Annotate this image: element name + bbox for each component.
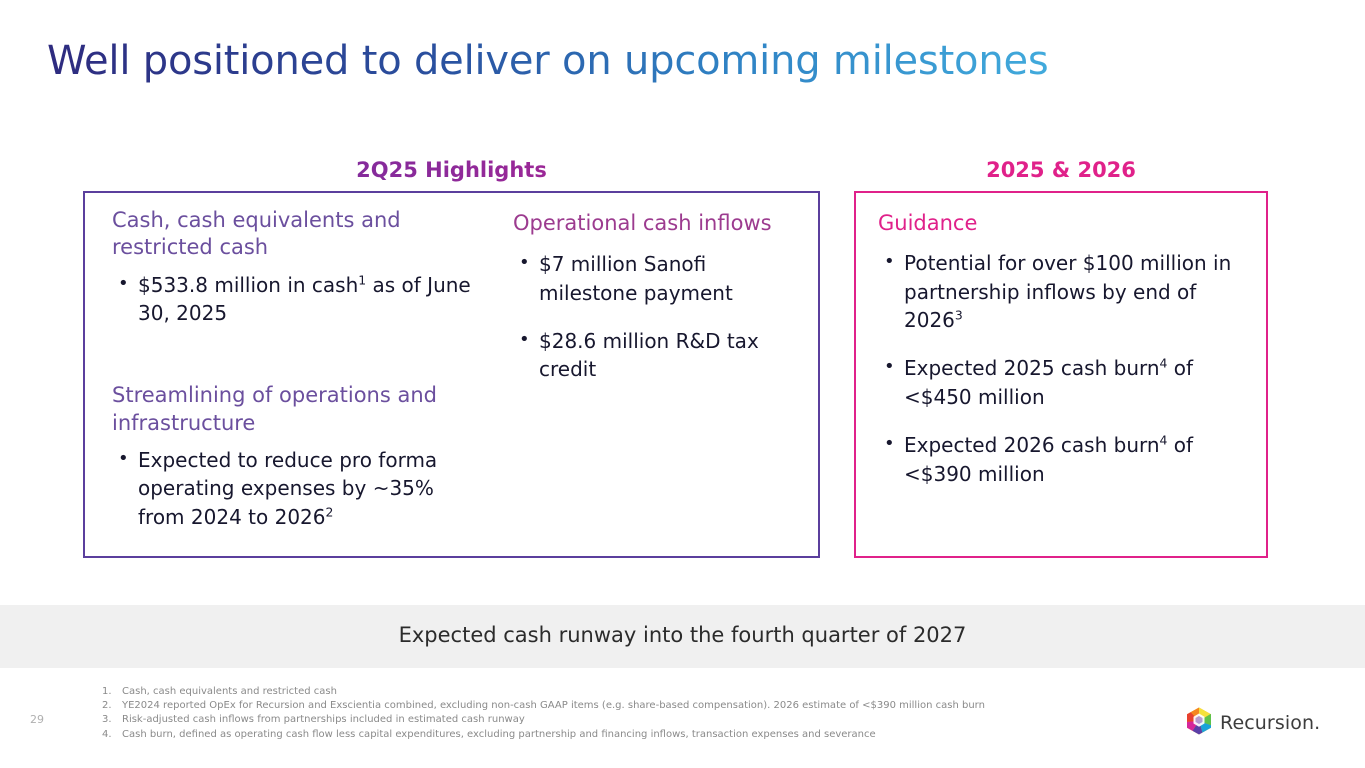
page-title: Well positioned to deliver on upcoming m… bbox=[47, 38, 1049, 84]
bullet-list-guidance: Potential for over $100 million in partn… bbox=[878, 249, 1258, 488]
footnotes: Cash, cash equivalents and restricted ca… bbox=[100, 685, 1140, 742]
company-logo: Recursion. bbox=[1186, 707, 1320, 739]
bullet-text: Potential for over $100 million in partn… bbox=[904, 251, 1231, 332]
panel-2025-2026-outlook: Guidance Potential for over $100 million… bbox=[854, 191, 1268, 558]
list-item: $7 million Sanofi milestone payment bbox=[513, 250, 803, 307]
list-item: Expected 2025 cash burn4 of <$450 millio… bbox=[878, 354, 1258, 411]
bullet-text: Expected 2026 cash burn bbox=[904, 433, 1160, 457]
section-heading-cash: Cash, cash equivalents and restricted ca… bbox=[112, 207, 482, 262]
footnote-marker: 2 bbox=[326, 504, 334, 519]
bullet-text: Expected 2025 cash burn bbox=[904, 356, 1160, 380]
bullet-text: $28.6 million R&D tax credit bbox=[539, 329, 759, 381]
list-item: $28.6 million R&D tax credit bbox=[513, 327, 803, 384]
section-heading-operational-inflows: Operational cash inflows bbox=[513, 210, 803, 237]
highlights-subcolumn-right: Operational cash inflows $7 million Sano… bbox=[513, 210, 803, 384]
list-item: $533.8 million in cash1 as of June 30, 2… bbox=[112, 271, 482, 328]
bullet-list-streamlining: Expected to reduce pro forma operating e… bbox=[112, 446, 482, 531]
recursion-hexagon-icon bbox=[1186, 707, 1212, 739]
panel-2q25-highlights: Cash, cash equivalents and restricted ca… bbox=[83, 191, 820, 558]
section-heading-streamlining: Streamlining of operations and infrastru… bbox=[112, 382, 482, 437]
bullet-text: $533.8 million in cash bbox=[138, 273, 358, 297]
footnote-marker: 1 bbox=[358, 272, 366, 287]
page-number: 29 bbox=[30, 713, 44, 726]
footnote-item: Risk-adjusted cash inflows from partners… bbox=[100, 713, 1140, 727]
outlook-subcolumn: Guidance Potential for over $100 million… bbox=[878, 210, 1258, 488]
column-header-highlights: 2Q25 Highlights bbox=[83, 158, 820, 182]
footnote-marker: 3 bbox=[955, 307, 963, 322]
list-item: Potential for over $100 million in partn… bbox=[878, 249, 1258, 334]
bullet-text: Expected to reduce pro forma operating e… bbox=[138, 448, 437, 529]
highlights-subcolumn-left: Cash, cash equivalents and restricted ca… bbox=[112, 207, 482, 531]
cash-runway-text: Expected cash runway into the fourth qua… bbox=[0, 623, 1365, 647]
logo-wordmark: Recursion. bbox=[1220, 712, 1320, 734]
footnote-item: Cash, cash equivalents and restricted ca… bbox=[100, 685, 1140, 699]
footnote-item: YE2024 reported OpEx for Recursion and E… bbox=[100, 699, 1140, 713]
bullet-list-cash: $533.8 million in cash1 as of June 30, 2… bbox=[112, 271, 482, 328]
bullet-list-operational-inflows: $7 million Sanofi milestone payment $28.… bbox=[513, 250, 803, 384]
section-heading-guidance: Guidance bbox=[878, 210, 1258, 237]
footnote-item: Cash burn, defined as operating cash flo… bbox=[100, 728, 1140, 742]
bullet-text: $7 million Sanofi milestone payment bbox=[539, 252, 733, 304]
slide-canvas: Well positioned to deliver on upcoming m… bbox=[0, 0, 1365, 768]
column-header-outlook: 2025 & 2026 bbox=[854, 158, 1268, 182]
list-item: Expected 2026 cash burn4 of <$390 millio… bbox=[878, 431, 1258, 488]
list-item: Expected to reduce pro forma operating e… bbox=[112, 446, 482, 531]
